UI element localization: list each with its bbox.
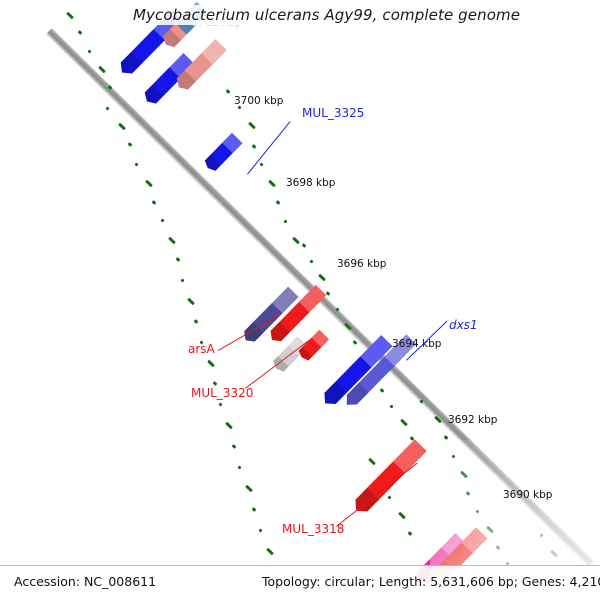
status-bar: Accession: NC_008611 Topology: circular;… bbox=[0, 565, 600, 600]
ruler-label: 3690 kbp bbox=[503, 489, 552, 501]
annotation-leader-line bbox=[245, 340, 309, 389]
ruler-tick bbox=[475, 509, 479, 513]
ruler-tick bbox=[539, 533, 543, 537]
ruler-tick bbox=[160, 218, 164, 222]
ruler-tick bbox=[258, 528, 262, 532]
gene-highlight bbox=[312, 330, 330, 348]
ruler-tick bbox=[225, 422, 233, 430]
ruler-tick bbox=[276, 200, 281, 205]
ruler-label: 3698 kbp bbox=[286, 177, 335, 189]
ruler-tick bbox=[194, 319, 199, 324]
ruler-tick bbox=[318, 274, 326, 282]
gene-label-mul-3320[interactable]: MUL_3320 bbox=[191, 386, 253, 400]
ruler-tick bbox=[259, 162, 263, 166]
ruler-tick bbox=[460, 471, 468, 479]
ruler-tick bbox=[168, 237, 176, 245]
gene-label-dxs1[interactable]: dxs1 bbox=[449, 318, 478, 332]
ruler-tick bbox=[292, 237, 300, 245]
ruler-tick bbox=[389, 404, 393, 408]
ruler-tick bbox=[98, 66, 106, 74]
ruler-tick bbox=[387, 495, 391, 499]
ruler-tick bbox=[66, 12, 74, 20]
ruler-tick bbox=[105, 106, 109, 110]
gene-shadow bbox=[297, 347, 313, 363]
gene-shadow bbox=[141, 85, 163, 107]
gene-shadow bbox=[202, 155, 220, 173]
gene-shadow bbox=[319, 381, 346, 409]
ruler-tick bbox=[268, 180, 276, 188]
ruler-tick bbox=[248, 122, 256, 130]
ruler-tick bbox=[444, 435, 449, 440]
ruler-tick bbox=[283, 219, 287, 223]
gene-shadow bbox=[116, 52, 142, 78]
ruler-tick bbox=[266, 548, 274, 556]
ruler-tick bbox=[237, 465, 241, 469]
ruler-tick bbox=[368, 458, 376, 466]
gene-label-mul-3325[interactable]: MUL_3325 bbox=[302, 106, 364, 120]
genome-summary-label: Topology: circular; Length: 5,631,606 bp… bbox=[262, 574, 600, 589]
gene-label-mul-3318[interactable]: MUL_3318 bbox=[282, 522, 344, 536]
ruler-tick bbox=[226, 89, 231, 94]
ruler-tick bbox=[207, 360, 215, 368]
genome-viewer-canvas[interactable]: 3702 kbp3700 kbp3698 kbp3696 kbp3694 kbp… bbox=[0, 0, 600, 600]
ruler-tick bbox=[550, 550, 558, 558]
ruler-tick bbox=[408, 531, 413, 536]
ruler-tick bbox=[128, 142, 133, 147]
gene-highlight bbox=[201, 39, 227, 65]
ruler-label: 3696 kbp bbox=[337, 258, 386, 270]
ruler-tick bbox=[466, 491, 471, 496]
ruler-tick bbox=[252, 144, 257, 149]
ruler-label: 3700 kbp bbox=[234, 95, 283, 107]
ruler-tick bbox=[187, 298, 195, 306]
gene-highlight bbox=[461, 527, 487, 553]
ruler-tick bbox=[118, 123, 126, 131]
gene-blue-mul3325[interactable] bbox=[202, 133, 242, 173]
ruler-tick bbox=[134, 162, 138, 166]
ruler-tick bbox=[302, 243, 307, 248]
gene-label-arsa[interactable]: arsA bbox=[188, 342, 215, 356]
ruler-tick bbox=[218, 402, 222, 406]
gene-highlight bbox=[222, 133, 243, 154]
ruler-label: 3692 kbp bbox=[448, 414, 497, 426]
ruler-tick bbox=[451, 454, 455, 458]
ruler-tick bbox=[87, 49, 91, 53]
ruler-tick bbox=[145, 180, 153, 188]
ruler-tick bbox=[245, 485, 253, 493]
ruler-tick bbox=[180, 278, 184, 282]
ruler-tick bbox=[232, 444, 237, 449]
ruler-tick bbox=[309, 259, 313, 263]
accession-label: Accession: NC_008611 bbox=[14, 574, 156, 589]
ruler-tick bbox=[400, 419, 408, 427]
ruler-tick bbox=[152, 200, 157, 205]
ruler-tick bbox=[496, 545, 501, 550]
gene-highlight bbox=[299, 285, 326, 312]
ruler-tick bbox=[78, 30, 83, 35]
ruler-tick bbox=[486, 526, 494, 534]
ruler-tick bbox=[176, 257, 181, 262]
ruler-tick bbox=[252, 507, 257, 512]
page-title: Mycobacterium ulcerans Agy99, complete g… bbox=[128, 5, 525, 25]
ruler-tick bbox=[380, 388, 385, 393]
gene-body bbox=[202, 133, 242, 173]
ruler-tick bbox=[398, 512, 406, 520]
